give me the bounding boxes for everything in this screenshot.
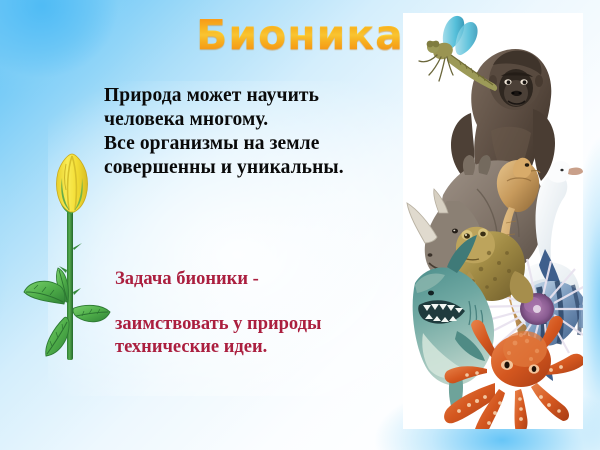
slide-title-shadow: Бионика [0, 13, 600, 59]
task-line-2: технические идеи. [115, 336, 415, 359]
rose-bud-icon [57, 154, 88, 212]
animal-collage-panel [403, 13, 583, 429]
main-paragraph-line-2: человека многому. [104, 108, 404, 132]
task-line-1: заимствовать у природы [115, 313, 415, 336]
main-paragraph-line-3: Все организмы на земле [104, 132, 404, 156]
slide-canvas: Бионика Бионика Природа может научить че… [0, 0, 600, 450]
main-paragraph: Природа может научить человека многому. … [104, 84, 404, 180]
main-paragraph-line-1: Природа может научить [104, 84, 404, 108]
rose-illustration [14, 152, 132, 367]
task-paragraph-spacer [115, 291, 415, 313]
main-paragraph-line-4: совершенны и уникальны. [104, 156, 404, 180]
task-heading: Задача бионики - [115, 268, 415, 291]
rose-svg [14, 152, 132, 367]
animal-collage-svg [403, 13, 583, 429]
task-paragraph: Задача бионики - заимствовать у природы … [115, 268, 415, 359]
